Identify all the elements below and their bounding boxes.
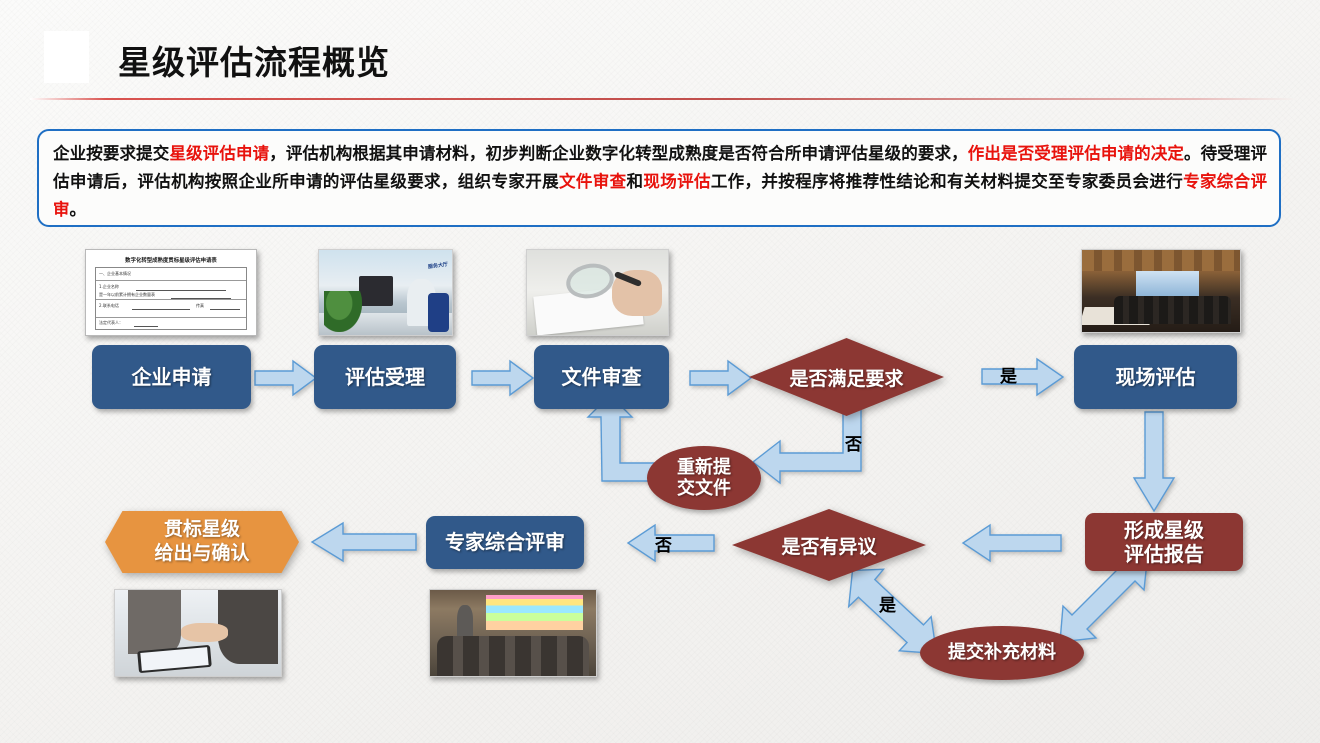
node-label: 文件审查	[562, 365, 642, 389]
node-enterprise-application[interactable]: 企业申请	[92, 345, 251, 409]
edge-label-yes-meets: 是	[1000, 362, 1017, 387]
arrow-expertreview-to-result	[311, 522, 417, 562]
node-submit-supplementary[interactable]: 提交补充材料	[920, 626, 1084, 680]
node-label-line1: 重新提	[677, 457, 731, 478]
node-label: 是否有异议	[781, 532, 876, 559]
highlighted-phrase: 文件审查	[559, 172, 626, 191]
arrow-apply-to-accept	[255, 360, 317, 396]
node-onsite-assessment[interactable]: 现场评估	[1074, 345, 1237, 409]
node-expert-comprehensive-review[interactable]: 专家综合评审	[426, 516, 584, 569]
node-label-line2: 给出与确认	[154, 542, 249, 564]
edge-label-yes-objection: 是	[879, 591, 896, 616]
header-square-icon	[44, 31, 89, 83]
document-review-photo	[526, 249, 669, 336]
node-label: 现场评估	[1116, 365, 1196, 389]
node-star-level-confirm[interactable]: 贯标星级 给出与确认	[105, 511, 299, 573]
plain-phrase: 。	[70, 200, 87, 219]
node-label: 评估受理	[345, 365, 425, 389]
edge-label-no-meets: 否	[845, 430, 862, 455]
expert-review-meeting-photo	[429, 589, 597, 677]
highlighted-phrase: 星级评估申请	[169, 144, 269, 163]
summary-callout: 企业按要求提交星级评估申请，评估机构根据其申请材料，初步判断企业数字化转型成熟度…	[37, 129, 1281, 227]
node-label-line2: 评估报告	[1124, 542, 1204, 566]
arrow-decision-yes-to-onsite	[982, 358, 1064, 396]
node-label: 提交补充材料	[948, 642, 1056, 663]
plain-phrase: 和	[626, 172, 643, 191]
form-preview-body: 一、企业基本情况 1.企业名称 是一年以前累计拥有企业数量表 2.联系电话 传真…	[95, 267, 247, 330]
arrow-report-to-objection	[962, 524, 1062, 562]
form-preview-title: 数字化转型成熟度贯标星级评估申请表	[86, 256, 256, 264]
plain-phrase: 工作，并按程序将推荐性结论和有关材料提交至专家委员会进行	[711, 172, 1183, 191]
application-form-photo: 数字化转型成熟度贯标星级评估申请表 一、企业基本情况 1.企业名称 是一年以前累…	[85, 249, 257, 336]
edge-label-no-objection: 否	[655, 531, 672, 556]
node-label-line2: 交文件	[677, 478, 731, 499]
node-form-star-report[interactable]: 形成星级 评估报告	[1085, 513, 1243, 571]
page-title: 星级评估流程概览	[118, 36, 390, 84]
node-document-review[interactable]: 文件审查	[534, 345, 669, 409]
node-assessment-acceptance[interactable]: 评估受理	[314, 345, 456, 409]
highlighted-phrase: 作出是否受理评估申请的决定	[968, 144, 1184, 163]
node-resubmit-documents[interactable]: 重新提 交文件	[647, 446, 761, 510]
node-label: 专家综合评审	[445, 530, 565, 554]
summary-paragraph: 企业按要求提交星级评估申请，评估机构根据其申请材料，初步判断企业数字化转型成熟度…	[53, 140, 1267, 224]
node-label-line1: 形成星级	[1124, 518, 1204, 542]
plain-phrase: 企业按要求提交	[53, 144, 169, 163]
arrow-onsite-to-report	[1133, 412, 1175, 512]
header-divider	[30, 98, 1298, 100]
node-label-line1: 贯标星级	[164, 518, 240, 540]
plain-phrase: ，评估机构根据其申请材料，初步判断企业数字化转型成熟度是否符合所申请评估星级的要…	[269, 144, 968, 163]
decision-meets-requirements[interactable]: 是否满足要求	[749, 338, 944, 416]
node-label: 企业申请	[132, 365, 212, 389]
onsite-conference-photo	[1081, 249, 1241, 333]
handshake-confirm-photo	[114, 589, 282, 677]
decision-has-objection[interactable]: 是否有异议	[732, 509, 926, 581]
office-acceptance-photo: 服务大厅	[318, 249, 453, 336]
arrow-accept-to-docreview	[472, 360, 534, 396]
highlighted-phrase: 现场评估	[643, 172, 710, 191]
arrow-docreview-to-decision	[690, 360, 752, 396]
slide-canvas: 星级评估流程概览 企业按要求提交星级评估申请，评估机构根据其申请材料，初步判断企…	[0, 0, 1320, 743]
node-label: 是否满足要求	[789, 364, 903, 391]
